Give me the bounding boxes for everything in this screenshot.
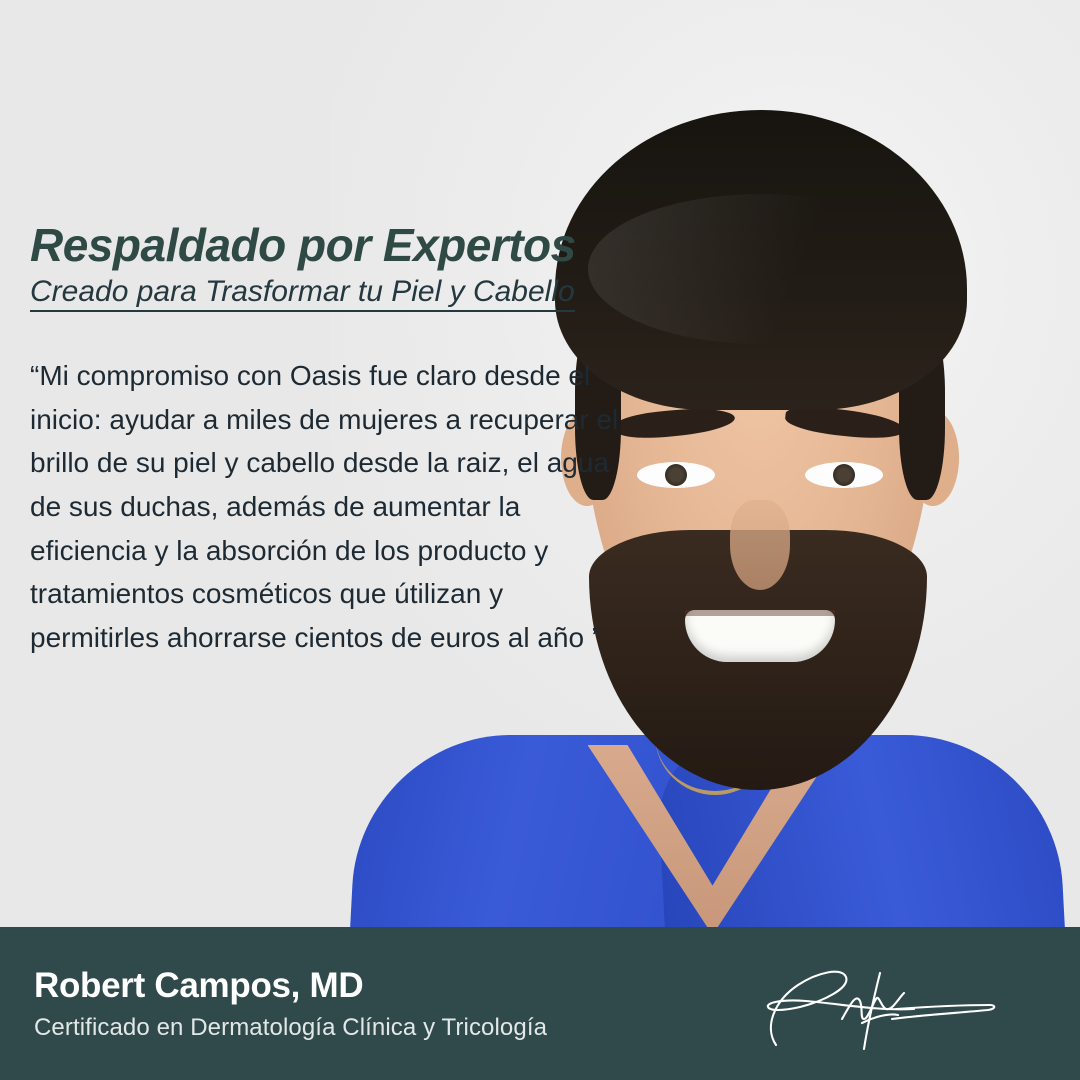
testimonial-quote: “Mi compromiso con Oasis fue claro desde… (30, 354, 630, 660)
subheadline: Creado para Trasformar tu Piel y Cabello (30, 275, 575, 312)
headline: Respaldado por Expertos (30, 0, 630, 269)
person-name: Robert Campos, MD (34, 966, 746, 1006)
eye-right (805, 462, 883, 488)
smile (685, 610, 835, 662)
text-content: Respaldado por Expertos Creado para Tras… (0, 0, 660, 660)
nose (730, 500, 790, 590)
testimonial-card: Respaldado por Expertos Creado para Tras… (0, 0, 1080, 1080)
person-credentials: Certificado en Dermatología Clínica y Tr… (34, 1014, 746, 1042)
footer-bar: Robert Campos, MD Certificado en Dermato… (0, 927, 1080, 1080)
signature-icon (746, 949, 1006, 1059)
person-info: Robert Campos, MD Certificado en Dermato… (34, 966, 746, 1042)
